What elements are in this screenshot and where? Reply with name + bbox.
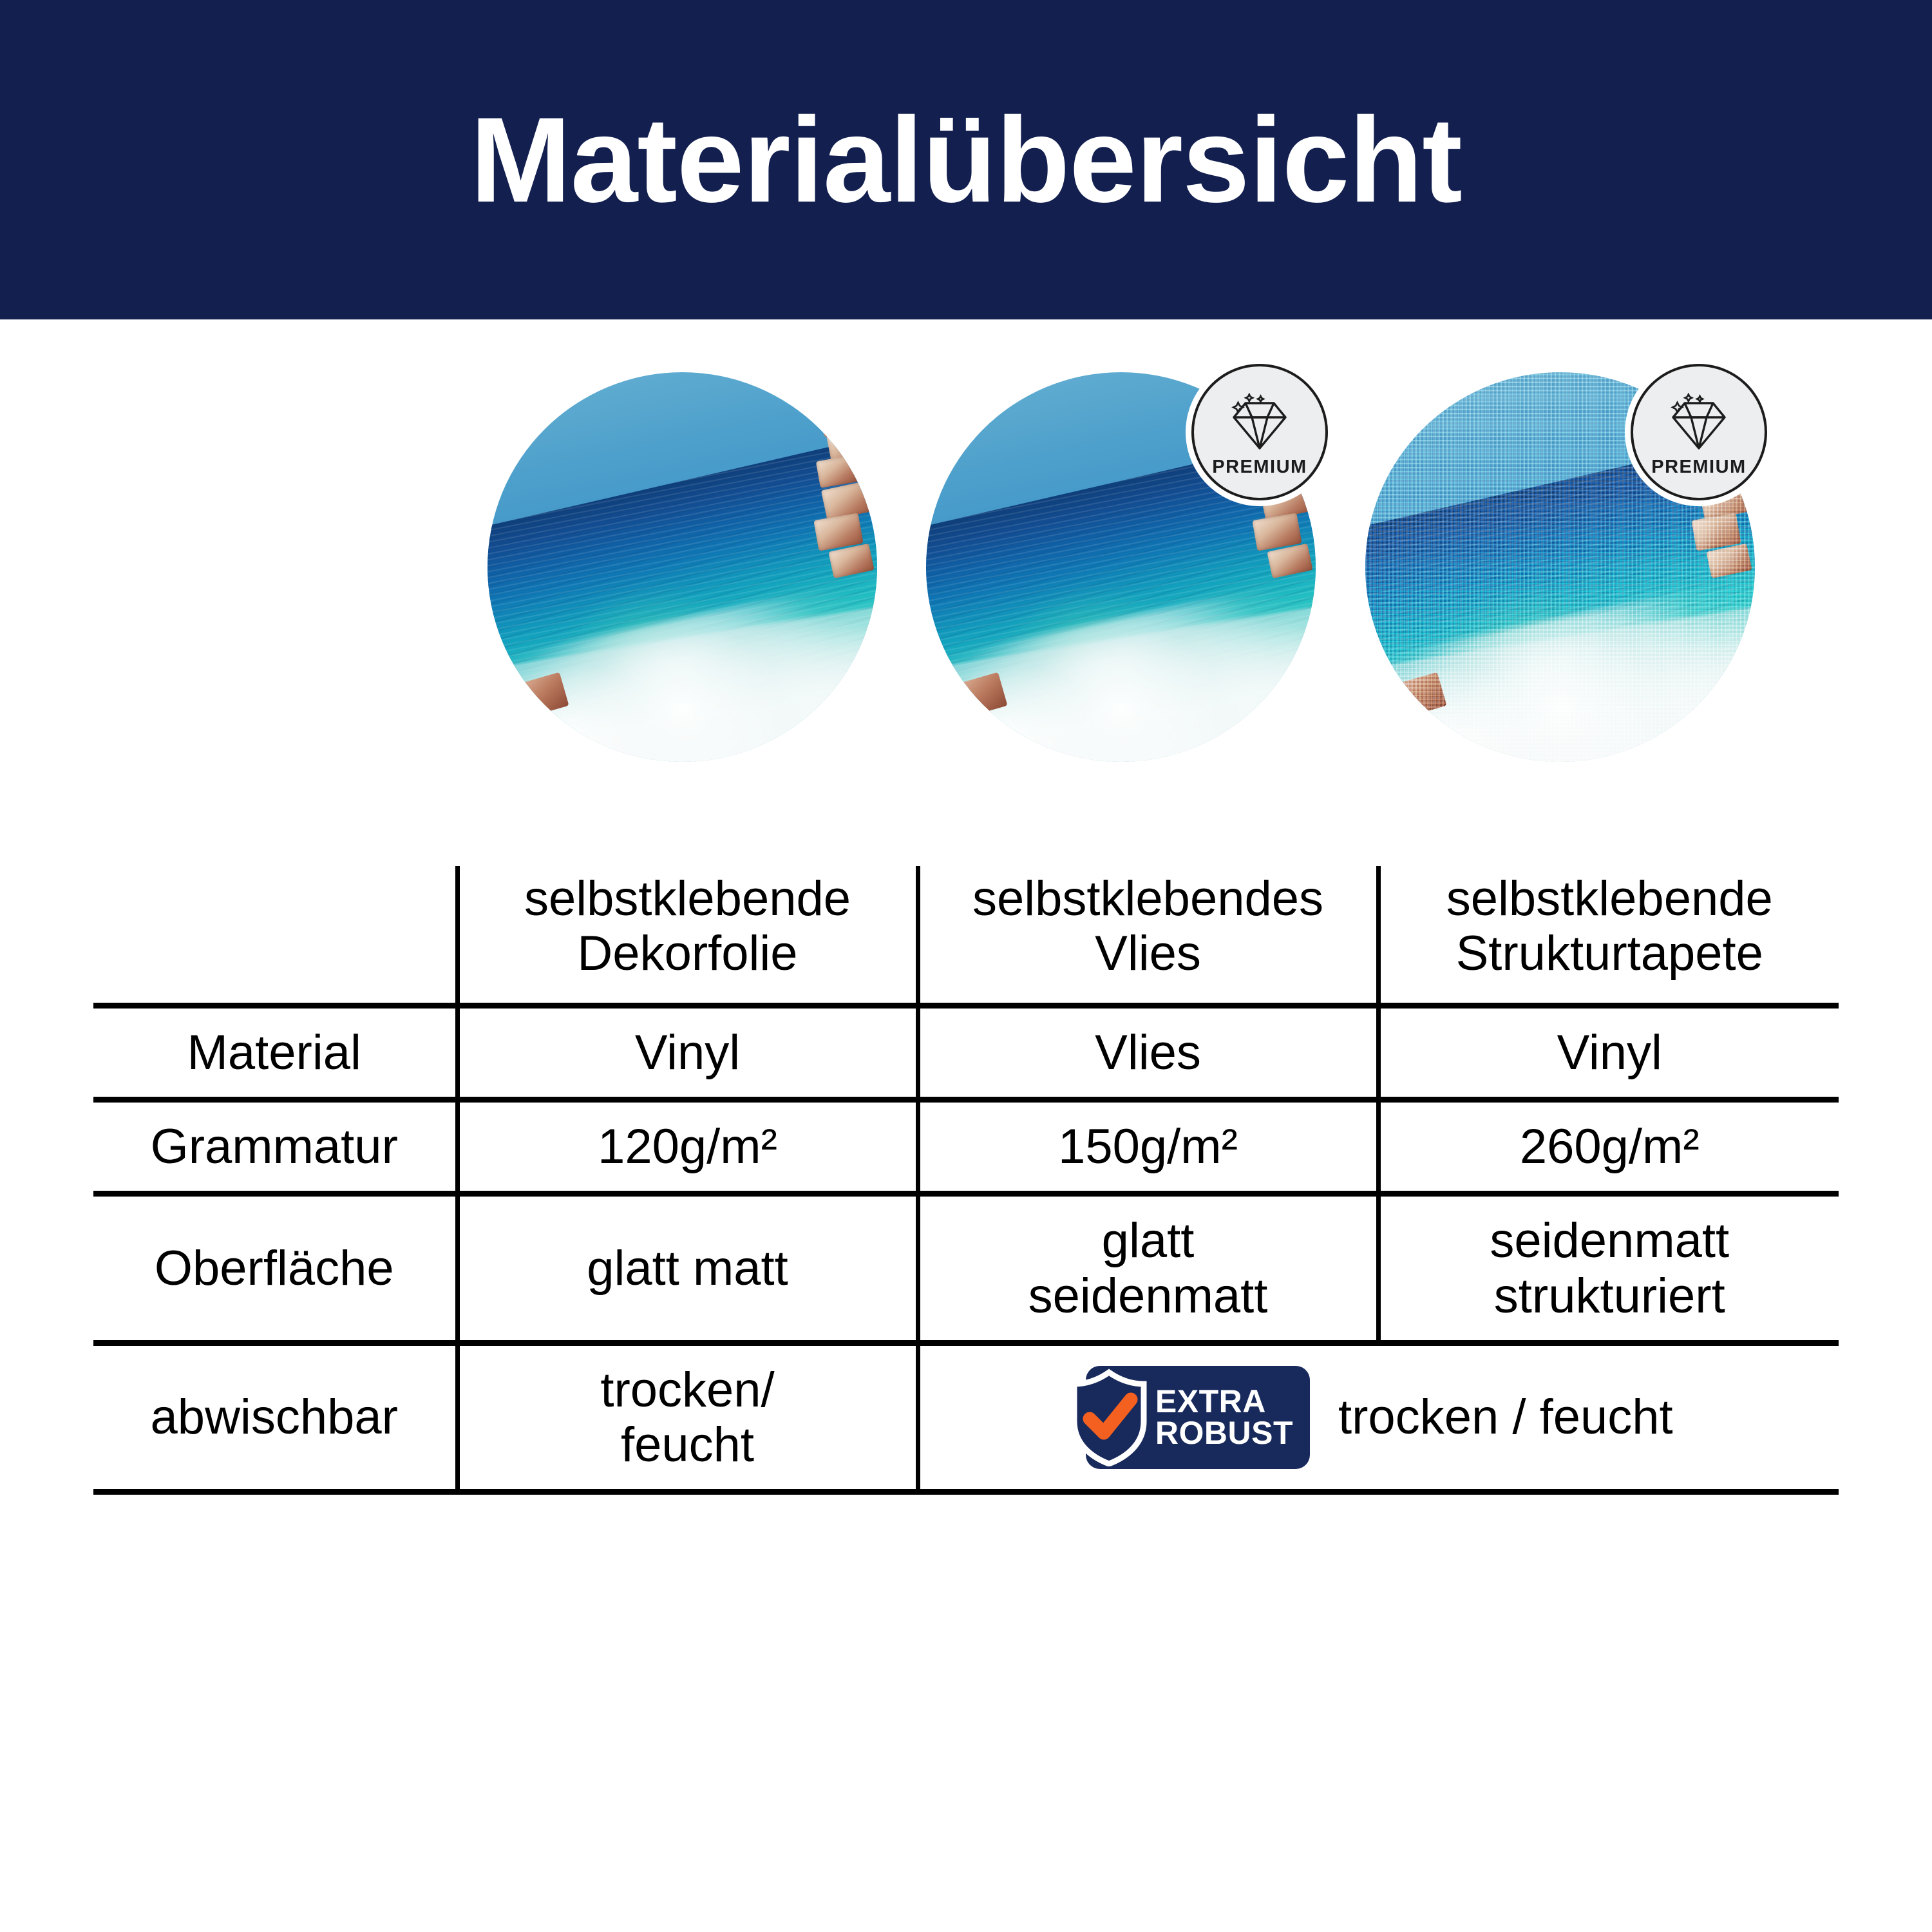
row-label-abwischbar: abwischbar xyxy=(93,1343,457,1492)
diamond-icon xyxy=(1665,393,1732,455)
cell-grammatur-dekorfolie: 120g/m² xyxy=(457,1100,918,1194)
material-swatch-row: PREMIUM xyxy=(0,361,1932,773)
cell-line1: seidenmatt xyxy=(1388,1213,1832,1268)
column-header-strukturtapete: selbstklebende Strukturtapete xyxy=(1378,866,1839,1006)
column-header-vlies: selbstklebendes Vlies xyxy=(918,866,1378,1006)
page-header: Materialübersicht xyxy=(0,0,1932,319)
column-header-dekorfolie: selbstklebende Dekorfolie xyxy=(457,866,918,1006)
extra-robust-line2: ROBUST xyxy=(1155,1417,1293,1449)
table-corner-cell xyxy=(93,866,457,1006)
shield-check-icon xyxy=(1068,1368,1150,1466)
premium-badge: PREMIUM xyxy=(1186,358,1334,506)
column-header-line2: Vlies xyxy=(928,926,1368,981)
material-comparison-table: selbstklebende Dekorfolie selbstklebende… xyxy=(93,866,1839,1495)
row-label-grammatur: Grammatur xyxy=(93,1100,457,1194)
cell-line2: feucht xyxy=(468,1417,908,1472)
material-overview-infographic: Materialübersicht xyxy=(0,0,1932,1932)
cell-line1: trocken/ xyxy=(468,1363,908,1417)
cell-grammatur-strukturtapete: 260g/m² xyxy=(1378,1100,1839,1194)
cell-material-dekorfolie: Vinyl xyxy=(457,1006,918,1100)
page-title: Materialübersicht xyxy=(470,99,1462,220)
table-row: Grammatur 120g/m² 150g/m² 260g/m² xyxy=(93,1100,1839,1194)
column-header-line1: selbstklebendes xyxy=(928,871,1368,926)
premium-badge-label: PREMIUM xyxy=(1212,458,1307,477)
extra-robust-line1: EXTRA xyxy=(1155,1386,1266,1417)
cell-material-strukturtapete: Vinyl xyxy=(1378,1006,1839,1100)
table-row: Material Vinyl Vlies Vinyl xyxy=(93,1006,1839,1100)
diamond-icon xyxy=(1226,393,1293,455)
column-header-line1: selbstklebende xyxy=(1388,871,1832,926)
swatch-strukturtapete[interactable]: PREMIUM xyxy=(1365,372,1755,762)
cell-line2: seidenmatt xyxy=(928,1269,1368,1323)
brick-wall-edge xyxy=(788,372,877,762)
extra-robust-badge: EXTRA ROBUST xyxy=(1086,1366,1310,1469)
row-label-oberflaeche: Oberfläche xyxy=(93,1194,457,1343)
cell-abwischbar-dekorfolie: trocken/ feucht xyxy=(457,1343,918,1492)
cell-abwischbar-merged-text: trocken / feucht xyxy=(1338,1390,1673,1444)
swatch-image-dekorfolie xyxy=(488,372,877,762)
cell-material-vlies: Vlies xyxy=(918,1006,1378,1100)
column-header-line2: Strukturtapete xyxy=(1388,926,1832,981)
column-header-line1: selbstklebende xyxy=(468,871,908,926)
cell-oberflaeche-strukturtapete: seidenmatt strukturiert xyxy=(1378,1194,1839,1343)
cell-grammatur-vlies: 150g/m² xyxy=(918,1100,1378,1194)
cell-oberflaeche-vlies: glatt seidenmatt xyxy=(918,1194,1378,1343)
premium-badge-label: PREMIUM xyxy=(1651,458,1746,477)
table-header-row: selbstklebende Dekorfolie selbstklebende… xyxy=(93,866,1839,1006)
cell-line2: strukturiert xyxy=(1388,1269,1832,1323)
cell-abwischbar-merged: EXTRA ROBUST trocken / feucht xyxy=(918,1343,1839,1492)
swatch-vlies[interactable]: PREMIUM xyxy=(926,372,1316,762)
row-label-material: Material xyxy=(93,1006,457,1100)
cell-line1: glatt xyxy=(928,1213,1368,1268)
swatch-dekorfolie[interactable] xyxy=(488,372,877,762)
table-row: Oberfläche glatt matt glatt seidenmatt s… xyxy=(93,1194,1839,1343)
cell-oberflaeche-dekorfolie: glatt matt xyxy=(457,1194,918,1343)
premium-badge: PREMIUM xyxy=(1625,358,1773,506)
table-row: abwischbar trocken/ feucht xyxy=(93,1343,1839,1492)
column-header-line2: Dekorfolie xyxy=(468,926,908,981)
